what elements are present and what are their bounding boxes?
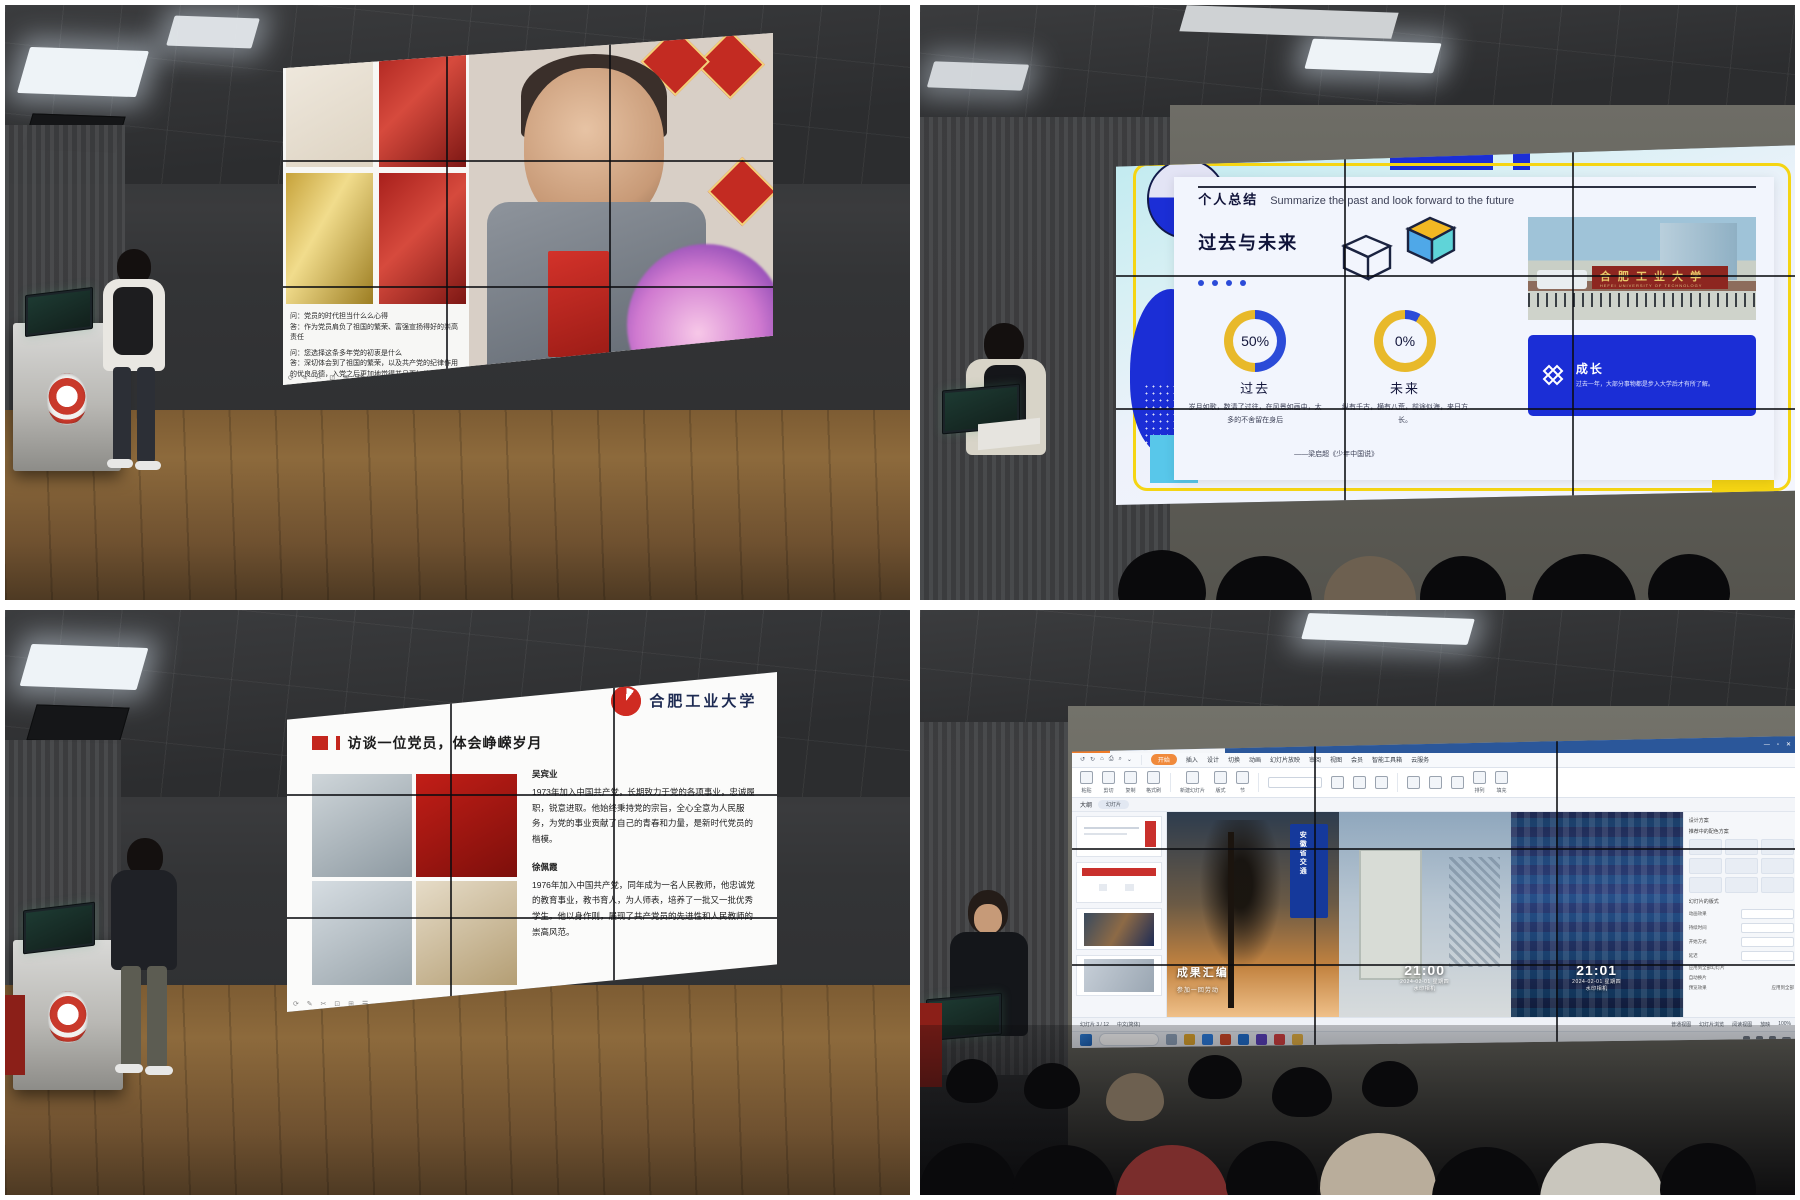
layout-icon <box>1214 771 1227 784</box>
ribbon-button-copy[interactable]: 复制 <box>1124 771 1137 794</box>
donut-caption-past: 过去 <box>1186 378 1324 397</box>
canvas-caption-sub: 参加一回劳动 <box>1177 985 1219 994</box>
gate-sign-sub: HEFEI UNIVERSITY OF TECHNOLOGY <box>1600 283 1703 288</box>
design-pane-section-1: 推荐中的配色方案 <box>1689 828 1794 835</box>
growth-card: 成长 过去一年，大部分事物都是步入大学后才有所了解。 <box>1528 335 1756 417</box>
campus-gate-sign: 合 肥 工 业 大 学 HEFEI UNIVERSITY OF TECHNOLO… <box>1592 266 1729 289</box>
scissors-icon <box>1102 771 1115 784</box>
canvas-photo-corridor: 21:00 2024-02-01 星期四 水印相机 <box>1339 812 1511 1017</box>
presenter-shoe <box>115 1064 143 1073</box>
redo-icon[interactable]: ↻ <box>1090 756 1095 763</box>
audience-head <box>1362 1061 1418 1107</box>
presenter-jacket <box>111 870 177 970</box>
underline-icon <box>1375 776 1388 789</box>
corridor-door <box>1359 849 1422 980</box>
photo-interview-scene <box>312 774 413 877</box>
copy-icon <box>1124 771 1137 784</box>
minimize-icon[interactable]: — <box>1764 742 1770 748</box>
ribbon-button-paste[interactable]: 粘贴 <box>1080 771 1093 794</box>
font-name-input[interactable] <box>1268 777 1322 788</box>
slide-personal-summary: 个人总结 Summarize the past and look forward… <box>1116 145 1800 505</box>
bullets-icon <box>1407 776 1420 789</box>
laptop-screen <box>28 290 90 334</box>
wps-breadcrumb-bar: 大纲 幻灯片 <box>1072 798 1799 811</box>
field-input[interactable] <box>1741 937 1794 947</box>
ribbon-label: 新建幻灯片 <box>1180 787 1205 794</box>
ribbon-tab-home[interactable]: 开始 <box>1151 754 1177 765</box>
ribbon-button-fill[interactable]: 填充 <box>1495 771 1508 794</box>
classroom-room-bl: 合肥工业大学 访谈一位党员，体会峥嵘岁月 吴宾业 <box>5 610 910 1195</box>
laptop-screen <box>26 905 92 951</box>
design-pane-title: 设计方案 <box>1689 817 1794 824</box>
ribbon-button-cut[interactable]: 剪切 <box>1102 771 1115 794</box>
growth-card-text: 过去一年，大部分事物都是步入大学后才有所了解。 <box>1576 380 1714 390</box>
classroom-room-br: 稻壳会员 社会实践成果汇编.pptx 已上传 + — ▫ ✕ <box>920 610 1795 1195</box>
speaker-face <box>974 904 1002 934</box>
university-logo-mark-icon <box>611 686 641 716</box>
italic-icon <box>1353 776 1366 789</box>
slide-left-column: 问：党员的时代担当什么么心得 答：作为党员肩负了祖国的繁荣、富强宣扬得好的崇高责… <box>283 33 469 385</box>
design-swatch[interactable] <box>1725 858 1758 874</box>
qa-line-3: 问：您选择这条多年党的初衷是什么 <box>290 349 462 360</box>
presenter-tl <box>97 249 183 479</box>
presenter-leg <box>113 367 131 463</box>
clipboard-icon <box>1080 771 1093 784</box>
ribbon-label: 排列 <box>1475 787 1485 794</box>
interview-photo-grid <box>312 774 518 985</box>
interviewee-text-2: 1976年加入中国共产党，同年成为一名人民教师，他忠诚党的教育事业，教书育人，为… <box>532 878 757 941</box>
photo-medal <box>286 173 373 304</box>
red-fire-cabinet <box>5 995 25 1075</box>
canvas-photo-shelves: 21:01 2024-02-01 星期四 水印相机 <box>1511 812 1683 1017</box>
ribbon-button-new-slide[interactable]: 新建幻灯片 <box>1180 771 1205 794</box>
photo-medal-red <box>416 774 517 877</box>
design-swatch-grid[interactable] <box>1689 839 1794 893</box>
slide-interview: 合肥工业大学 访谈一位党员，体会峥嵘岁月 吴宾业 <box>287 672 777 1012</box>
watermark-date: 2024-02-01 星期四 <box>1400 978 1449 985</box>
animation-field-row[interactable]: 动画效果 <box>1689 909 1794 919</box>
arrange-icon <box>1473 771 1486 784</box>
video-wall-tr: 个人总结 Summarize the past and look forward… <box>1116 145 1800 505</box>
slide-thumbnail[interactable] <box>1076 908 1162 949</box>
ribbon-button-underline[interactable] <box>1375 776 1388 789</box>
ceiling-light-icon <box>17 47 149 97</box>
animation-field-row[interactable]: 延迟 <box>1689 951 1794 961</box>
home-icon[interactable]: ⌂ <box>1100 756 1104 763</box>
photo-gift-box <box>379 173 466 304</box>
align-icon <box>1429 776 1442 789</box>
design-swatch[interactable] <box>1725 839 1758 855</box>
field-input[interactable] <box>1741 951 1794 961</box>
slide-title-row: 访谈一位党员，体会峥嵘岁月 <box>312 733 543 753</box>
presenter-shoe <box>135 461 161 470</box>
thumbnail-red-banner <box>1082 868 1156 877</box>
tree-trunk <box>1228 832 1233 1008</box>
panel-bottom-left: 合肥工业大学 访谈一位党员，体会峥嵘岁月 吴宾业 <box>0 605 915 1200</box>
photo-interview-scene-2 <box>312 881 413 984</box>
classroom-room-tl: 问：党员的时代担当什么么心得 答：作为党员肩负了祖国的繁荣、富强宣扬得好的崇高责… <box>5 5 910 600</box>
new-slide-icon <box>1186 771 1199 784</box>
campus-gate-photo: 合 肥 工 业 大 学 HEFEI UNIVERSITY OF TECHNOLO… <box>1528 217 1756 320</box>
tree-silhouette <box>1194 820 1287 980</box>
slide-photo-collage: 问：党员的时代担当什么么心得 答：作为党员肩负了祖国的繁荣、富强宣扬得好的崇高责… <box>283 33 773 385</box>
ribbon-tab-view[interactable]: 视图 <box>1330 755 1342 764</box>
donut-chart-future: 0% <box>1374 310 1436 372</box>
presenter-shoe <box>145 1066 173 1075</box>
watermark-stamp-1: 21:00 2024-02-01 星期四 水印相机 <box>1400 962 1449 992</box>
red-envelope-prop <box>548 251 609 357</box>
interviewee-name-1: 吴宾业 <box>532 767 757 783</box>
slide-thumbnail[interactable] <box>1076 816 1162 857</box>
presenter-bl <box>105 838 193 1090</box>
ribbon-tab-review[interactable]: 审阅 <box>1309 755 1321 764</box>
ribbon-button-bullets[interactable] <box>1407 776 1420 789</box>
design-swatch[interactable] <box>1761 858 1794 874</box>
design-swatch[interactable] <box>1689 839 1722 855</box>
ribbon-label: 填充 <box>1497 787 1507 794</box>
slide-thumbnail-panel[interactable] <box>1072 812 1167 1017</box>
animation-field-row[interactable]: 开始方式 <box>1689 937 1794 947</box>
ribbon-label: 粘贴 <box>1081 787 1091 794</box>
slide-canvas[interactable]: 安徽省交通 成果汇编 参加一回劳动 21:00 2024-02-01 <box>1167 812 1683 1017</box>
donut-value-past: 50% <box>1224 310 1286 372</box>
undo-icon[interactable]: ↺ <box>1080 756 1085 763</box>
ribbon-label: 复制 <box>1125 787 1135 794</box>
breadcrumb-pill[interactable]: 幻灯片 <box>1098 800 1129 809</box>
ribbon-button-shape[interactable] <box>1451 776 1464 789</box>
design-pane-section-2: 幻灯片的版式 <box>1689 898 1794 905</box>
outline-label[interactable]: 大纲 <box>1080 800 1092 809</box>
watermark-stamp-2: 21:01 2024-02-01 星期四 水印相机 <box>1572 962 1621 992</box>
cube-filled-icon <box>1402 211 1462 269</box>
headline-en: Summarize the past and look forward to t… <box>1270 195 1514 207</box>
field-label: 动画效果 <box>1689 911 1707 917</box>
panel-top-left: 问：党员的时代担当什么么心得 答：作为党员肩负了祖国的繁荣、富强宣扬得好的崇高责… <box>0 0 915 605</box>
maximize-icon[interactable]: ▫ <box>1777 742 1779 748</box>
quick-access-toolbar[interactable]: ↺ ↻ ⌂ ⎙ ⌕ ⌄ <box>1080 756 1132 763</box>
ribbon-tab-smart-tools[interactable]: 智能工具箱 <box>1372 755 1402 764</box>
checkbox-row[interactable]: 自动换片 <box>1689 975 1794 981</box>
interviewee-name-2: 徐佩霞 <box>532 860 757 876</box>
video-wall-bl: 合肥工业大学 访谈一位党员，体会峥嵘岁月 吴宾业 <box>287 672 777 1012</box>
bold-icon <box>1331 776 1344 789</box>
campus-van <box>1537 270 1587 289</box>
title-accent-bar <box>312 736 328 750</box>
design-swatch[interactable] <box>1689 858 1722 874</box>
ribbon-button-section[interactable]: 节 <box>1236 771 1249 794</box>
cube-outline-icon <box>1336 226 1398 284</box>
apply-all-button[interactable]: 应用到全部 <box>1772 985 1795 991</box>
ceiling-vent-icon <box>26 704 129 743</box>
ceiling-light-icon <box>1304 39 1441 74</box>
design-swatch[interactable] <box>1725 877 1758 893</box>
qa-line-2: 答：作为党员肩负了祖国的繁荣、富强宣扬得好的崇高责任 <box>290 323 462 344</box>
field-label: 开始方式 <box>1689 939 1707 945</box>
canvas-photo-sunset: 安徽省交通 成果汇编 参加一回劳动 <box>1167 812 1339 1017</box>
ribbon-tab-insert[interactable]: 插入 <box>1186 755 1198 764</box>
ribbon-label: 节 <box>1240 787 1245 794</box>
ribbon-button-italic[interactable] <box>1353 776 1366 789</box>
deco-four-dots <box>1198 280 1246 286</box>
ribbon-label: 剪切 <box>1103 787 1113 794</box>
ribbon-tab-transition[interactable]: 切换 <box>1228 755 1240 764</box>
preview-button-row[interactable]: 预览效果应用到全部 <box>1689 985 1794 991</box>
slide-title: 访谈一位党员，体会峥嵘岁月 <box>348 733 543 753</box>
slide-content-card: 个人总结 Summarize the past and look forward… <box>1174 177 1773 479</box>
laptop-tl[interactable] <box>25 287 93 337</box>
checkbox-label: 应用到全部幻灯片 <box>1689 965 1725 971</box>
donut-value-future: 0% <box>1374 310 1436 372</box>
wps-window-controls[interactable]: — ▫ ✕ <box>1756 736 1799 753</box>
design-swatch[interactable] <box>1689 877 1722 893</box>
university-logo-text: 合肥工业大学 <box>649 690 757 711</box>
watermark-date: 2024-02-01 星期四 <box>1572 978 1621 985</box>
slide-title: 过去与未来 <box>1198 229 1298 255</box>
header-rule <box>1198 186 1755 188</box>
preview-button[interactable]: 预览效果 <box>1689 985 1707 991</box>
close-icon[interactable]: ✕ <box>1786 741 1791 748</box>
interview-body: 吴宾业 1973年加入中国共产党，长期致力于党的各项事业，忠诚履职，锐意进取。他… <box>532 767 757 952</box>
animation-field-row[interactable]: 持续时间 <box>1689 923 1794 933</box>
presenter-leg <box>121 966 141 1068</box>
presenter-leg <box>147 966 167 1068</box>
panel-top-right: 个人总结 Summarize the past and look forward… <box>915 0 1800 605</box>
ribbon-button-arrange[interactable]: 排列 <box>1473 771 1486 794</box>
wps-ribbon: 粘贴 剪切 复制 格式刷 新建幻灯片 版式 节 <box>1072 768 1799 799</box>
road-sign-text: 安徽省交通 <box>1297 831 1307 876</box>
ceiling-light-icon <box>20 644 149 690</box>
watermark-app: 水印相机 <box>1400 985 1449 992</box>
donut-text-future: 纵有千古，横有八荒，前途似海，来日方长。 <box>1336 402 1474 427</box>
watermark-time: 21:00 <box>1400 962 1449 978</box>
ribbon-tab-cloud[interactable]: 云服务 <box>1411 755 1429 764</box>
classroom-room-tr: 个人总结 Summarize the past and look forward… <box>920 5 1795 600</box>
format-painter-icon <box>1147 771 1160 784</box>
search-icon[interactable]: ⌕ <box>1119 756 1122 763</box>
slide-headline: 个人总结 Summarize the past and look forward… <box>1198 189 1514 208</box>
design-swatch[interactable] <box>1761 839 1794 855</box>
print-icon[interactable]: ⎙ <box>1109 756 1114 763</box>
headline-cn: 个人总结 <box>1198 189 1258 208</box>
ribbon-button-format-painter[interactable]: 格式刷 <box>1146 771 1161 794</box>
donut-block-future: 0% 未来 纵有千古，横有八荒，前途似海，来日方长。 <box>1336 310 1474 427</box>
audience-head <box>1188 1055 1242 1099</box>
donut-chart-past: 50% <box>1224 310 1286 372</box>
pencil-cross-icon <box>1540 362 1566 388</box>
slide-thumbnail[interactable] <box>1076 955 1162 996</box>
watermark-time: 21:01 <box>1572 962 1621 978</box>
presenter-vest <box>113 287 153 355</box>
checkbox-row[interactable]: 应用到全部幻灯片 <box>1689 965 1794 971</box>
qa-line-1: 问：党员的时代担当什么么心得 <box>290 312 462 323</box>
design-task-pane[interactable]: 设计方案 推荐中的配色方案 幻灯片的版式 动画效果 持续时间 开始方式 <box>1683 812 1799 1017</box>
fu-character-icon <box>696 33 765 99</box>
ceiling-light-icon <box>166 15 260 48</box>
gate-sign-main: 合 肥 工 业 大 学 <box>1600 268 1703 284</box>
ribbon-label: 版式 <box>1216 787 1226 794</box>
checkbox-label: 自动换片 <box>1689 975 1707 981</box>
fu-character-icon <box>708 157 773 226</box>
canvas-caption-title: 成果汇编 <box>1177 964 1229 980</box>
video-wall-br: 稻壳会员 社会实践成果汇编.pptx 已上传 + — ▫ ✕ <box>1072 736 1799 1048</box>
chevron-down-icon[interactable]: ⌄ <box>1127 756 1132 763</box>
panel-bottom-right: 稻壳会员 社会实践成果汇编.pptx 已上传 + — ▫ ✕ <box>915 605 1800 1200</box>
section-icon <box>1236 771 1249 784</box>
video-wall-tl: 问：党员的时代担当什么么心得 答：作为党员肩负了祖国的繁荣、富强宣扬得好的崇高责… <box>283 33 773 385</box>
watermark-app: 水印相机 <box>1572 985 1621 992</box>
presenter-leg <box>137 367 155 463</box>
donut-block-past: 50% 过去 岁月如歌，数清了过往，在风景如画中，太多的不舍留在身后 <box>1186 310 1324 427</box>
ribbon-tab-member[interactable]: 会员 <box>1351 755 1363 764</box>
corridor-fence <box>1449 857 1501 968</box>
slide-quote: ——梁启超《少年中国说》 <box>1294 449 1378 459</box>
design-swatch[interactable] <box>1761 877 1794 893</box>
ribbon-tab-animation[interactable]: 动画 <box>1249 755 1261 764</box>
field-label: 持续时间 <box>1689 925 1707 931</box>
photo-collage: 问：党员的时代担当什么么心得 答：作为党员肩负了祖国的繁荣、富强宣扬得好的崇高责… <box>0 0 1800 1200</box>
interviewee-text-1: 1973年加入中国共产党，长期致力于党的各项事业，忠诚履职，锐意进取。他始终秉持… <box>532 785 757 848</box>
ribbon-button-layout[interactable]: 版式 <box>1214 771 1227 794</box>
title-accent-bar-thin <box>336 736 340 750</box>
ribbon-label: 格式刷 <box>1146 787 1161 794</box>
laptop-bl[interactable] <box>23 902 95 955</box>
ceiling-light-icon <box>927 61 1029 90</box>
university-seal-icon <box>47 373 87 425</box>
field-label: 延迟 <box>1689 953 1698 959</box>
university-seal-icon <box>48 991 88 1043</box>
wps-office-window: 稻壳会员 社会实践成果汇编.pptx 已上传 + — ▫ ✕ <box>1072 736 1799 1048</box>
fill-icon <box>1495 771 1508 784</box>
donut-caption-future: 未来 <box>1336 378 1474 397</box>
slide-toolbar-icons[interactable]: ⟳ ✎ ✂ ⊡ ⊞ ☰ <box>288 374 366 382</box>
audience-head <box>1024 1063 1080 1109</box>
shape-icon <box>1451 776 1464 789</box>
university-logo: 合肥工业大学 <box>611 686 757 716</box>
audience-head <box>946 1059 998 1103</box>
photo-badge-closeup <box>416 881 517 984</box>
wps-ribbon-tabs: ↺ ↻ ⌂ ⎙ ⌕ ⌄ 开始 插入 设计 切换 动画 幻灯片放映 <box>1072 753 1799 767</box>
presenter-shoe <box>107 459 133 468</box>
ribbon-button-bold[interactable] <box>1331 776 1344 789</box>
field-input[interactable] <box>1741 909 1794 919</box>
donut-text-past: 岁月如歌，数清了过往，在风景如画中，太多的不舍留在身后 <box>1186 402 1324 427</box>
field-input[interactable] <box>1741 923 1794 933</box>
ribbon-tab-slideshow[interactable]: 幻灯片放映 <box>1270 755 1300 764</box>
road-sign: 安徽省交通 <box>1290 824 1328 918</box>
campus-fence <box>1528 293 1756 307</box>
growth-card-title: 成长 <box>1576 360 1714 377</box>
slide-right-photo <box>469 33 773 385</box>
wps-main-area: 安徽省交通 成果汇编 参加一回劳动 21:00 2024-02-01 <box>1072 812 1799 1017</box>
ribbon-tab-design[interactable]: 设计 <box>1207 755 1219 764</box>
ribbon-button-align[interactable] <box>1429 776 1442 789</box>
slide-thumbnail[interactable] <box>1076 862 1162 903</box>
